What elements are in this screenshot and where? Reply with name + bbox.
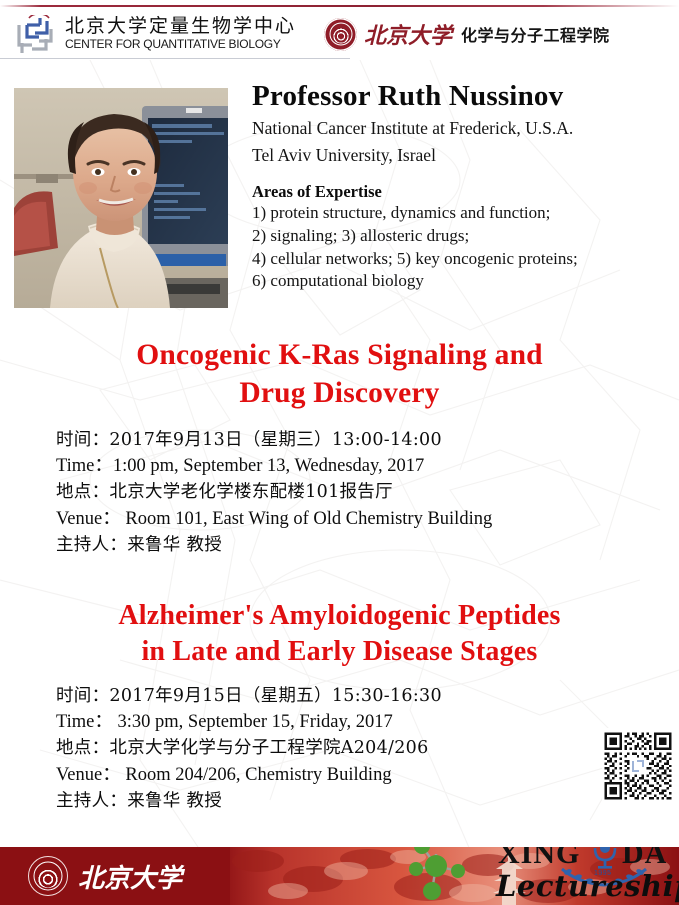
talk-1-time-cn: 时间：2017年9月13日（星期三）13:00-14:00 <box>56 428 656 453</box>
expertise-item: 2) signaling; 3) allosteric drugs; <box>252 225 672 248</box>
qr-code-icon[interactable] <box>602 728 674 804</box>
talk-2-host-cn: 主持人：来鲁华 教授 <box>56 789 656 814</box>
cqb-chinese-name: 北京大学定量生物学中心 <box>65 17 296 36</box>
talk-1-title-line: Oncogenic K-Ras Signaling and <box>0 336 679 374</box>
header-underline-divider <box>0 58 350 59</box>
poster-canvas: 北京大学定量生物学中心 CENTER FOR QUANTITATIVE BIOL… <box>0 0 679 905</box>
top-rule-divider <box>0 5 679 7</box>
pku-seal-ring <box>34 862 63 891</box>
speaker-affiliation-2: Tel Aviv University, Israel <box>252 144 672 167</box>
expertise-item: 1) protein structure, dynamics and funct… <box>252 202 672 225</box>
expertise-item: 4) cellular networks; 5) key oncogenic p… <box>252 248 672 271</box>
header-bar: 北京大学定量生物学中心 CENTER FOR QUANTITATIVE BIOL… <box>0 10 679 58</box>
pku-seal-icon <box>28 856 68 896</box>
xingda-word-da: DA <box>622 847 667 871</box>
expertise-heading: Areas of Expertise <box>252 181 672 202</box>
talk-1-host-cn: 主持人：来鲁华 教授 <box>56 533 656 558</box>
speaker-info-block: Professor Ruth Nussinov National Cancer … <box>252 80 672 293</box>
talk-1-venue-en: Venue： Room 101, East Wing of Old Chemis… <box>56 506 656 533</box>
xingda-word-xing: XING <box>498 847 580 871</box>
talk-2-title-line: Alzheimer's Amyloidogenic Peptides <box>0 598 679 634</box>
footer-bar: 北京大学 <box>0 847 679 905</box>
pku-seal-ring <box>329 23 352 46</box>
footer-pku-chinese-name: 北京大学 <box>78 858 182 895</box>
talk-2-venue-en: Venue： Room 204/206, Chemistry Building <box>56 762 656 789</box>
talk-1-venue-cn: 地点：北京大学老化学楼东配楼101报告厅 <box>56 480 656 505</box>
molecule-icon <box>408 847 488 903</box>
talk-1-title-line: Drug Discovery <box>0 374 679 412</box>
speaker-affiliation-1: National Cancer Institute at Frederick, … <box>252 117 672 140</box>
cqb-english-name: CENTER FOR QUANTITATIVE BIOLOGY <box>65 38 289 50</box>
talk-2-time-en: Time： 3:30 pm, September 15, Friday, 201… <box>56 709 656 736</box>
talk-2-time-cn: 时间：2017年9月15日（星期五）15:30-16:30 <box>56 684 656 709</box>
pku-department-name: 化学与分子工程学院 <box>461 22 610 46</box>
talk-2-title-line: in Late and Early Disease Stages <box>0 634 679 670</box>
xingda-lectureship-logo: XING DA 1995 Lectureship <box>470 847 675 905</box>
cqb-logo-block: 北京大学定量生物学中心 CENTER FOR QUANTITATIVE BIOL… <box>16 15 296 53</box>
cqb-maze-logo-icon <box>16 15 56 53</box>
expertise-item: 6) computational biology <box>252 270 672 293</box>
cqb-text-block: 北京大学定量生物学中心 CENTER FOR QUANTITATIVE BIOL… <box>65 17 296 50</box>
talk-2-details: 时间：2017年9月15日（星期五）15:30-16:30 Time： 3:30… <box>56 684 656 814</box>
talk-1-title: Oncogenic K-Ras Signaling and Drug Disco… <box>0 336 679 413</box>
footer-pku-logo-block: 北京大学 <box>28 856 182 896</box>
speaker-photo <box>14 88 228 308</box>
pku-logo-block: 北京大学 化学与分子工程学院 <box>324 18 610 51</box>
talk-1-details: 时间：2017年9月13日（星期三）13:00-14:00 Time：1:00 … <box>56 428 656 558</box>
pku-seal-icon <box>324 18 357 51</box>
talk-1-time-en: Time：1:00 pm, September 13, Wednesday, 2… <box>56 453 656 480</box>
talk-2-title: Alzheimer's Amyloidogenic Peptides in La… <box>0 598 679 671</box>
speaker-name: Professor Ruth Nussinov <box>252 80 672 113</box>
pku-chinese-name: 北京大学 <box>364 18 452 50</box>
talk-2-venue-cn: 地点：北京大学化学与分子工程学院A204/206 <box>56 736 656 761</box>
xingda-script-lectureship: Lectureship <box>496 869 679 903</box>
